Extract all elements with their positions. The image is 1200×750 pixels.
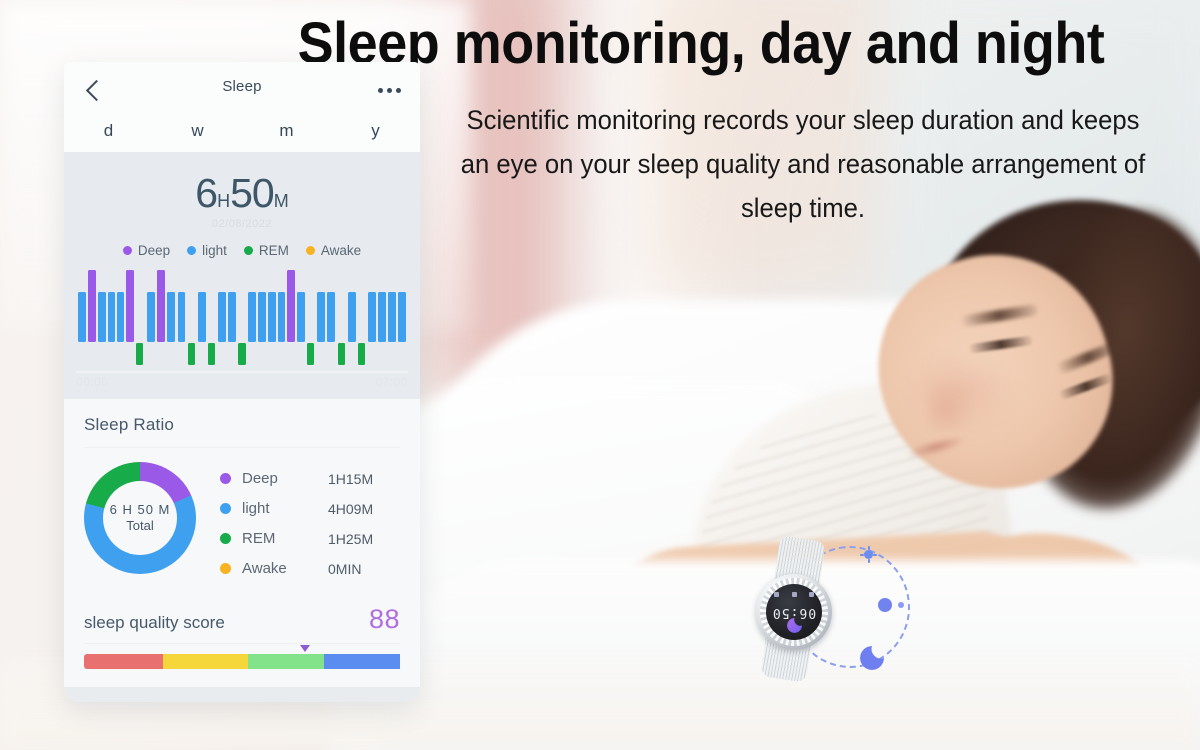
phone-footer — [64, 687, 420, 703]
duration-minutes: 50 — [230, 170, 274, 216]
legend-label-awake: Awake — [321, 243, 361, 258]
watch-time: 06:50 — [766, 605, 822, 620]
ratio-row-deep: Deep 1H15M — [220, 464, 400, 494]
duration-hours: 6 — [195, 170, 217, 216]
hypnogram-bar — [88, 270, 96, 342]
legend-label-light: light — [202, 243, 227, 258]
hypnogram-bar — [98, 292, 106, 342]
divider-quality — [84, 643, 400, 644]
hypnogram-bar — [238, 343, 245, 365]
hypnogram-bar — [157, 270, 165, 342]
hypnogram-bar — [136, 343, 143, 365]
watch-face-icons — [774, 592, 814, 599]
sleep-quality-header: sleep quality score 88 — [84, 604, 400, 635]
quality-segment-1 — [163, 654, 248, 669]
legend-item-rem: REM — [244, 243, 289, 258]
app-header: Sleep — [64, 62, 420, 120]
hypnogram-bar — [368, 292, 376, 342]
ratio-dot-light — [220, 503, 231, 514]
hypnogram-bar — [398, 292, 406, 342]
quality-segment-2 — [248, 654, 324, 669]
hypnogram-bar — [117, 292, 124, 342]
hypnogram-bar — [198, 292, 206, 342]
hypnogram-bar — [378, 292, 386, 342]
ratio-label-light: light — [242, 500, 328, 517]
hypnogram-bar — [258, 292, 266, 342]
hypnogram-bar — [78, 292, 86, 342]
donut-center: 6 H 50 M Total — [103, 481, 177, 555]
ratio-value-rem: 1H25M — [328, 531, 373, 547]
donut-total-label: Total — [126, 518, 153, 533]
hypnogram-bar — [178, 292, 185, 342]
legend-item-light: light — [187, 243, 227, 258]
watch-face: 06:50 — [766, 584, 822, 640]
axis-label-end: 07:00 — [375, 375, 408, 389]
legend-dot-light — [187, 246, 196, 255]
hypnogram-bar — [297, 292, 305, 342]
sleep-ratio-title: Sleep Ratio — [84, 415, 400, 435]
ratio-label-rem: REM — [242, 530, 328, 547]
ratio-label-awake: Awake — [242, 560, 328, 577]
hypnogram-bar — [348, 292, 356, 342]
sleep-quality-score: 88 — [369, 604, 400, 635]
sleep-ratio-donut: 6 H 50 M Total — [84, 462, 196, 574]
hypnogram-bar — [268, 292, 276, 342]
quality-segment-0 — [84, 654, 163, 669]
legend-item-awake: Awake — [306, 243, 361, 258]
smartwatch: 06:50 — [748, 538, 918, 683]
quality-score-marker — [300, 645, 310, 652]
sleep-ratio-body: 6 H 50 M Total Deep 1H15M light 4H09M R — [84, 462, 400, 584]
duration-minutes-unit: M — [274, 191, 289, 211]
axis-label-start: 00:00 — [76, 375, 109, 389]
legend-dot-rem — [244, 246, 253, 255]
divider — [84, 447, 400, 448]
hypnogram-bar — [108, 292, 115, 342]
orbit-node-small-icon — [898, 602, 904, 608]
ratio-value-awake: 0MIN — [328, 561, 361, 577]
hypnogram-bar — [228, 292, 236, 342]
ratio-dot-awake — [220, 563, 231, 574]
hypnogram-bar — [126, 270, 134, 342]
quality-segment-3 — [324, 654, 400, 669]
hypnogram-bar — [167, 292, 175, 342]
watch-case: 06:50 — [756, 574, 832, 650]
hypnogram-bar — [218, 292, 226, 342]
hypnogram-bar — [287, 270, 295, 342]
ratio-row-awake: Awake 0MIN — [220, 554, 400, 584]
sleep-ratio-list: Deep 1H15M light 4H09M REM 1H25M Awake 0… — [220, 462, 400, 584]
watch-moon-icon — [787, 618, 802, 633]
orbit-node-icon — [878, 598, 892, 612]
legend-dot-awake — [306, 246, 315, 255]
ratio-value-deep: 1H15M — [328, 471, 373, 487]
tab-month[interactable]: m — [242, 120, 331, 152]
hypnogram-bar — [278, 292, 285, 342]
donut-total-time: 6 H 50 M — [110, 502, 171, 517]
hypnogram-bar — [388, 292, 396, 342]
ratio-row-light: light 4H09M — [220, 494, 400, 524]
ratio-dot-deep — [220, 473, 231, 484]
hypnogram-card: 6H50M 02/08/2022 Deep light REM Awake 00… — [64, 152, 420, 399]
legend-dot-deep — [123, 246, 132, 255]
sleep-quality-title: sleep quality score — [84, 613, 225, 633]
sleep-ratio-card: Sleep Ratio 6 H 50 M Total Deep 1H15M li… — [64, 399, 420, 594]
ratio-value-light: 4H09M — [328, 501, 373, 517]
sun-icon — [860, 546, 877, 563]
legend-label-rem: REM — [259, 243, 289, 258]
record-date: 02/08/2022 — [64, 218, 420, 230]
tab-day[interactable]: d — [64, 120, 153, 152]
hypnogram-bar — [188, 343, 195, 365]
ratio-label-deep: Deep — [242, 470, 328, 487]
hypnogram-bar — [338, 343, 345, 365]
ratio-row-rem: REM 1H25M — [220, 524, 400, 554]
sleep-quality-card: sleep quality score 88 — [64, 594, 420, 687]
nose — [928, 378, 972, 430]
sleep-duration: 6H50M — [64, 162, 420, 217]
hypnogram-bar — [307, 343, 314, 365]
hypnogram-bar — [317, 292, 325, 342]
hypnogram-bar — [327, 292, 335, 342]
chart-legend: Deep light REM Awake — [64, 243, 420, 258]
duration-hours-unit: H — [217, 191, 230, 211]
chart-axis-labels: 00:00 07:00 — [64, 373, 420, 393]
legend-label-deep: Deep — [138, 243, 170, 258]
period-tabs: d w m y — [64, 120, 420, 152]
hypnogram-bar — [358, 343, 365, 365]
ellipsis-icon[interactable] — [378, 84, 404, 98]
page-subcopy: Scientific monitoring records your sleep… — [458, 98, 1148, 230]
tab-year[interactable]: y — [331, 120, 420, 152]
hypnogram-bar — [248, 292, 256, 342]
app-title: Sleep — [64, 78, 420, 95]
phone-app-mockup: Sleep d w m y 6H50M 02/08/2022 Deep ligh… — [64, 62, 420, 702]
legend-item-deep: Deep — [123, 243, 170, 258]
ratio-dot-rem — [220, 533, 231, 544]
sleep-quality-bar — [84, 654, 400, 669]
hypnogram-bar — [208, 343, 215, 365]
hypnogram-chart — [78, 270, 406, 365]
tab-week[interactable]: w — [153, 120, 242, 152]
hypnogram-bar — [147, 292, 155, 342]
